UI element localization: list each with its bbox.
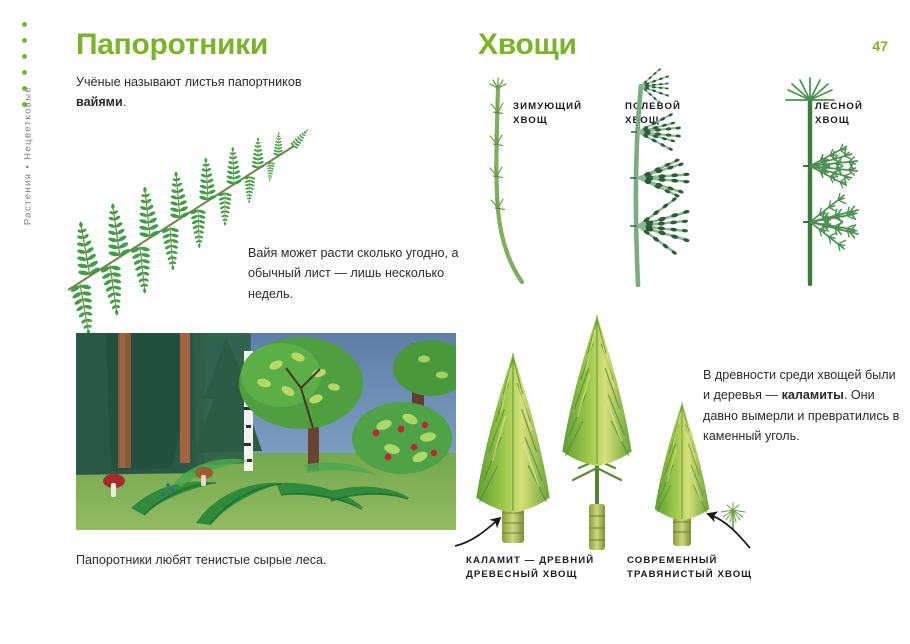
intro-text-part1: Учёные называют листья папортников xyxy=(76,75,302,89)
arrow-curved-right xyxy=(455,518,500,546)
ferns-intro-text: Учёные называют листья папортников вайям… xyxy=(76,72,306,113)
sidebar-dot xyxy=(22,54,27,59)
page-number: 47 xyxy=(872,38,888,54)
sidebar-section-label: Растения • Нецветковые xyxy=(23,66,34,246)
label-line-2: ТРАВЯНИСТЫЙ ХВОЩ xyxy=(627,568,752,582)
sidebar: Растения • Нецветковые xyxy=(0,0,46,644)
fern-frond-icon xyxy=(50,108,320,308)
forest-watercolor-illustration xyxy=(76,333,456,530)
horsetail-species-illustration xyxy=(470,70,900,290)
textbook-page-spread: Растения • Нецветковые Папоротники Хвощи… xyxy=(0,0,910,644)
label-line-2: ДРЕВЕСНЫЙ ХВОЩ xyxy=(466,568,594,582)
forest-photo-caption: Папоротники любят тенистые сырые леса. xyxy=(76,550,416,570)
page-title-horsetails: Хвощи xyxy=(478,28,577,62)
sidebar-dot xyxy=(22,38,27,43)
field-horsetail-art xyxy=(630,64,690,285)
forest-horsetail-art xyxy=(786,78,858,284)
page-title-ferns: Папоротники xyxy=(76,28,268,62)
caption-arrows xyxy=(450,490,830,560)
sidebar-dot xyxy=(22,22,27,27)
wintering-horsetail-art xyxy=(490,78,522,282)
calamites-text-bold: каламиты xyxy=(782,388,844,402)
arrow-curved-left xyxy=(708,514,750,548)
